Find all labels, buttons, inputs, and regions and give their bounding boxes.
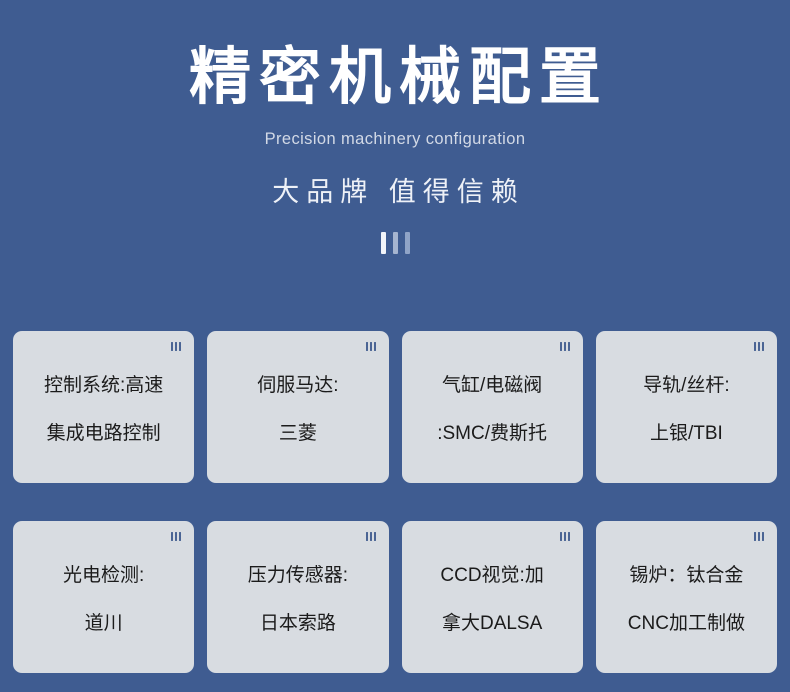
- divider-bar-2: [393, 232, 398, 254]
- page-root: { "theme": { "background_color": "#3f5c9…: [0, 0, 790, 692]
- spec-card-line-2: 日本索路: [260, 611, 336, 636]
- spec-card-line-1: 光电检测:: [63, 563, 144, 588]
- spec-card[interactable]: 导轨/丝杆: 上银/TBI: [596, 331, 777, 483]
- spec-card-grid: 控制系统:高速 集成电路控制 伺服马达: 三菱 气缸/电磁阀 :SMC/费斯托 …: [13, 331, 777, 673]
- spec-card[interactable]: 锡炉：钛合金 CNC加工制做: [596, 521, 777, 673]
- three-bars-marker-icon: [754, 532, 764, 541]
- header-section: 精密机械配置 Precision machinery configuration…: [0, 0, 790, 254]
- spec-card-line-2: 道川: [85, 611, 123, 636]
- spec-card-line-2: 集成电路控制: [47, 421, 161, 446]
- spec-card-line-1: 锡炉：钛合金: [629, 563, 743, 588]
- page-subtitle-chinese: 大品牌 值得信赖: [0, 174, 790, 210]
- spec-card-line-1: 导轨/丝杆:: [643, 373, 730, 398]
- three-bars-marker-icon: [171, 342, 181, 351]
- three-bars-marker-icon: [754, 342, 764, 351]
- three-bars-marker-icon: [560, 342, 570, 351]
- spec-card[interactable]: 压力传感器: 日本索路: [207, 521, 388, 673]
- spec-card-line-1: 伺服马达:: [257, 373, 338, 398]
- spec-card[interactable]: 光电检测: 道川: [13, 521, 194, 673]
- three-bars-marker-icon: [366, 342, 376, 351]
- spec-card[interactable]: 控制系统:高速 集成电路控制: [13, 331, 194, 483]
- spec-card[interactable]: 气缸/电磁阀 :SMC/费斯托: [402, 331, 583, 483]
- spec-card[interactable]: CCD视觉:加 拿大DALSA: [402, 521, 583, 673]
- three-bars-divider-icon: [375, 232, 415, 254]
- spec-card-line-2: 拿大DALSA: [442, 611, 542, 636]
- page-subtitle-english: Precision machinery configuration: [0, 128, 790, 150]
- page-title: 精密机械配置: [0, 40, 790, 116]
- spec-card-line-1: CCD视觉:加: [440, 563, 543, 588]
- spec-card-line-1: 控制系统:高速: [44, 373, 163, 398]
- spec-card-line-2: 上银/TBI: [650, 421, 723, 446]
- three-bars-marker-icon: [560, 532, 570, 541]
- spec-card-line-1: 压力传感器:: [248, 563, 348, 588]
- divider-bar-1: [381, 232, 386, 254]
- divider-bar-3: [405, 232, 410, 254]
- three-bars-marker-icon: [171, 532, 181, 541]
- spec-card-line-1: 气缸/电磁阀: [442, 373, 542, 398]
- spec-card[interactable]: 伺服马达: 三菱: [207, 331, 388, 483]
- three-bars-marker-icon: [366, 532, 376, 541]
- spec-card-line-2: 三菱: [279, 421, 317, 446]
- spec-card-line-2: :SMC/费斯托: [437, 421, 547, 446]
- spec-card-line-2: CNC加工制做: [628, 611, 745, 636]
